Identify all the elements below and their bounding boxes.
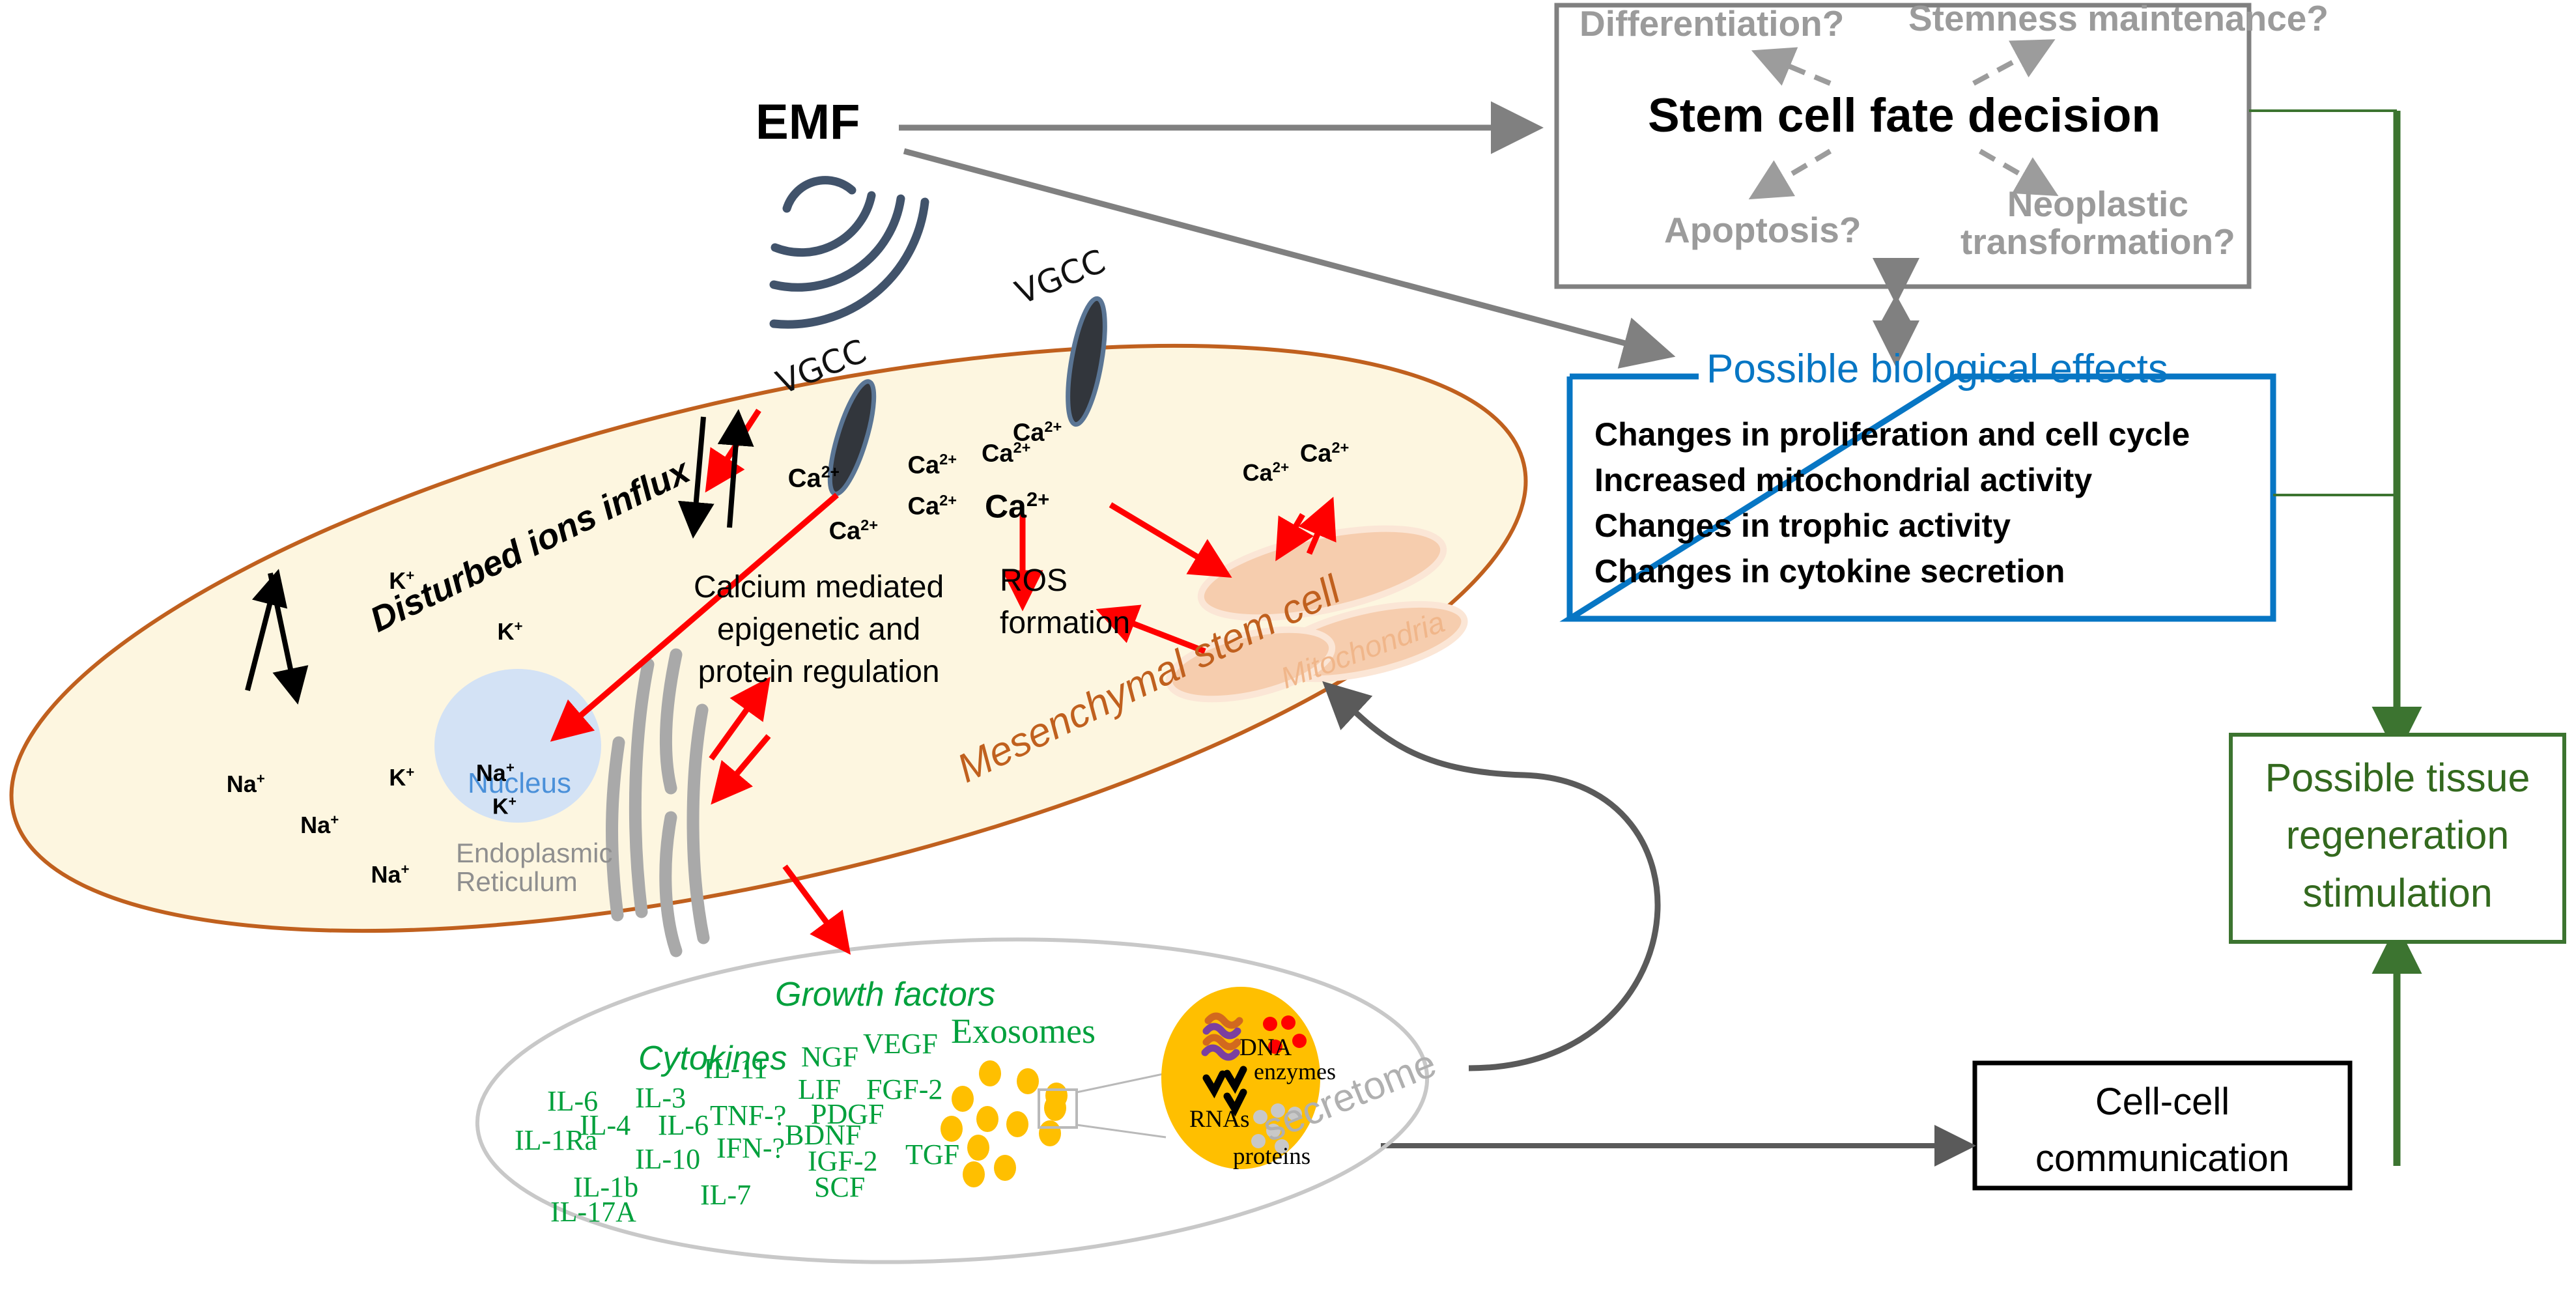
cytokine-label: IL-17A bbox=[550, 1197, 636, 1227]
cytokine-label: IL-6 bbox=[658, 1111, 709, 1140]
exosome-content-rnas: RNAs bbox=[1189, 1107, 1250, 1133]
growth-factor-label: SCF bbox=[814, 1172, 865, 1202]
exosome-content-enzymes: enzymes bbox=[1254, 1060, 1336, 1084]
growth-factor-label: TGF bbox=[905, 1140, 959, 1170]
exosome-content-proteins: proteins bbox=[1233, 1144, 1310, 1170]
growth-factor-label: VEGF bbox=[863, 1029, 938, 1059]
diagram-canvas: EMF Stem cell fate decision Differentiat… bbox=[0, 0, 2576, 1289]
cytokine-label: IL-11 bbox=[703, 1054, 768, 1084]
exosome-content-dna: DNA bbox=[1239, 1036, 1292, 1061]
cytokine-label: IL-10 bbox=[635, 1144, 700, 1174]
cytokine-labels: IL-11IL-6IL-3TNF-?IL-4IL-6IL-1RaIFN-?IL-… bbox=[0, 0, 2576, 1289]
cytokine-label: IFN-? bbox=[716, 1133, 785, 1163]
cytokine-label: IL-1Ra bbox=[515, 1126, 597, 1155]
cytokine-label: IL-7 bbox=[700, 1180, 751, 1210]
growth-factor-label: NGF bbox=[801, 1042, 858, 1072]
cytokine-label: TNF-? bbox=[710, 1101, 786, 1131]
